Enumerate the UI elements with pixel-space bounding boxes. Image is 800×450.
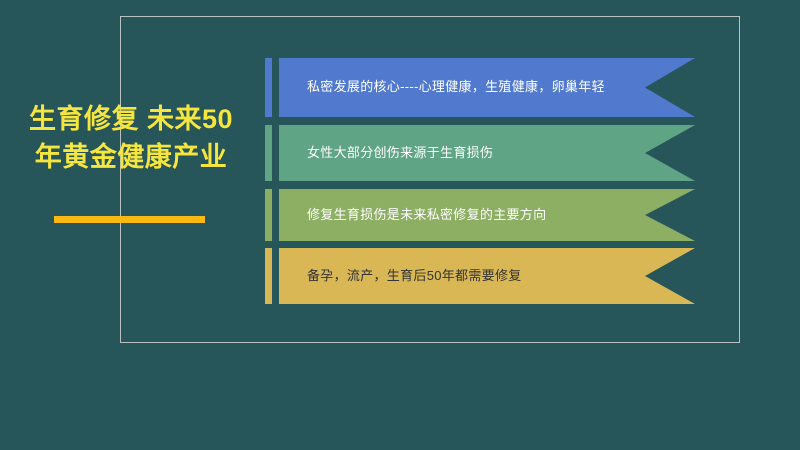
banner-arrow-shape: 修复生育损伤是未来私密修复的主要方向 (279, 189, 695, 241)
banner-arrow-shape: 备孕，流产，生育后50年都需要修复 (279, 248, 695, 304)
banner-label: 备孕，流产，生育后50年都需要修复 (279, 268, 582, 285)
banner-item[interactable]: 女性大部分创伤来源于生育损伤 (265, 125, 695, 181)
banner-label: 女性大部分创伤来源于生育损伤 (279, 145, 553, 162)
slide-canvas: 生育修复 未来50年黄金健康产业 私密发展的核心----心理健康，生殖健康，卵巢… (0, 0, 800, 450)
banner-arrow-shape: 女性大部分创伤来源于生育损伤 (279, 125, 695, 181)
page-title: 生育修复 未来50年黄金健康产业 (28, 100, 234, 177)
banner-arrow-shape: 私密发展的核心----心理健康，生殖健康，卵巢年轻 (279, 58, 695, 117)
banner-item[interactable]: 私密发展的核心----心理健康，生殖健康，卵巢年轻 (265, 58, 695, 117)
title-underline (54, 216, 205, 223)
banner-accent-bar (265, 58, 272, 117)
banner-item[interactable]: 修复生育损伤是未来私密修复的主要方向 (265, 189, 695, 241)
banner-label: 私密发展的核心----心理健康，生殖健康，卵巢年轻 (279, 79, 665, 96)
banner-accent-bar (265, 125, 272, 181)
banner-label: 修复生育损伤是未来私密修复的主要方向 (279, 207, 606, 224)
banner-item[interactable]: 备孕，流产，生育后50年都需要修复 (265, 248, 695, 304)
banner-accent-bar (265, 189, 272, 241)
title-block: 生育修复 未来50年黄金健康产业 (28, 100, 234, 177)
banner-accent-bar (265, 248, 272, 304)
